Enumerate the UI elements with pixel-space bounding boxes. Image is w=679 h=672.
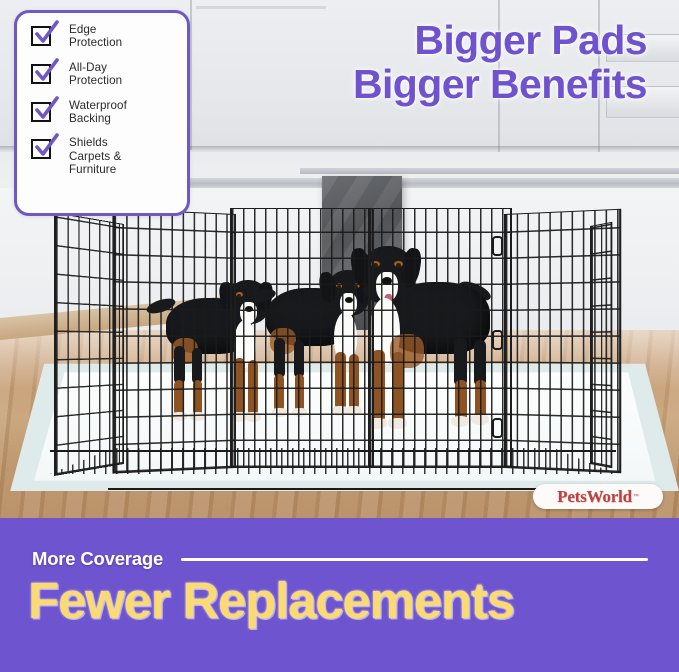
feature-label-line-2: Carpets &: [69, 150, 121, 163]
pen-rail: [50, 450, 616, 452]
kitchen-counter: [185, 178, 679, 188]
cabinet-seam: [196, 6, 326, 9]
brand-logo: PetsWorld™: [533, 484, 663, 509]
brand-name: PetsWorld: [557, 487, 632, 507]
pen-hinge: [492, 236, 503, 256]
pen-panel: [590, 222, 612, 469]
banner-rule-top: [181, 558, 648, 561]
headline-line-1: Bigger Pads: [353, 18, 647, 62]
feature-list-card: Edge Protection All-Day Protection Water…: [14, 10, 190, 216]
feature-label-line-2: Protection: [69, 36, 122, 49]
banner-headline: Fewer Replacements: [28, 573, 514, 629]
checkbox-checked-icon: [31, 137, 57, 161]
pen-panel: [230, 208, 374, 468]
feature-label-line-1: All-Day: [69, 61, 107, 74]
banner-kicker-row: More Coverage: [32, 548, 648, 570]
feature-label: All-Day Protection: [69, 61, 122, 88]
headline: Bigger Pads Bigger Benefits: [353, 18, 647, 106]
pen-panel: [368, 208, 512, 468]
feature-item: All-Day Protection: [26, 61, 178, 88]
feature-label: Edge Protection: [69, 23, 122, 50]
feature-label-line-1: Waterproof: [69, 99, 127, 112]
feature-item: Waterproof Backing: [26, 99, 178, 126]
wire-playpen: [48, 196, 608, 486]
feature-label-line-2: Backing: [69, 112, 111, 125]
pen-panel: [112, 208, 236, 473]
feature-item: Shields Carpets & Furniture: [26, 136, 178, 176]
cabinet-seam: [190, 0, 192, 150]
feature-label: Waterproof Backing: [69, 99, 127, 126]
feature-label-line-3: Furniture: [69, 163, 116, 176]
pen-front-panels: [50, 448, 616, 490]
counter-edge-back: [300, 168, 679, 174]
bottom-banner: More Coverage Fewer Replacements: [0, 518, 679, 672]
checkbox-checked-icon: [31, 62, 57, 86]
feature-label-line-2: Protection: [69, 74, 122, 87]
checkbox-checked-icon: [31, 24, 57, 48]
feature-label: Shields Carpets & Furniture: [69, 136, 121, 176]
banner-kicker: More Coverage: [32, 548, 163, 570]
feature-label-line-1: Edge: [69, 23, 96, 36]
pen-rail: [108, 488, 560, 490]
product-marketing-image: Bigger Pads Bigger Benefits Edge Protect…: [0, 0, 679, 672]
pen-hinge: [492, 418, 503, 438]
headline-line-2: Bigger Benefits: [353, 62, 647, 106]
feature-label-line-1: Shields: [69, 136, 108, 149]
checkbox-checked-icon: [31, 100, 57, 124]
pen-hinge: [492, 330, 503, 350]
trademark-symbol: ™: [633, 494, 639, 500]
feature-item: Edge Protection: [26, 23, 178, 50]
